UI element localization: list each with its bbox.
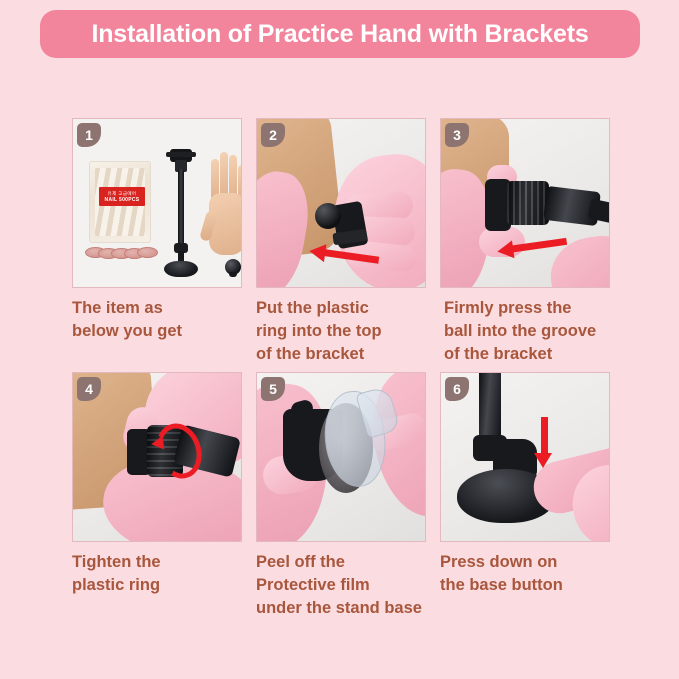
practice-discs-icon xyxy=(85,245,159,263)
page-title: Installation of Practice Hand with Brack… xyxy=(91,20,588,49)
step-1: 유제 고급에어 NAIL 500PCS xyxy=(72,118,242,365)
title-banner: Installation of Practice Hand with Brack… xyxy=(40,10,640,58)
step-4: 4 Tighten the plastic ring xyxy=(72,372,242,619)
bracket-threads xyxy=(507,181,549,225)
stand-with-suction-base-icon xyxy=(161,149,201,271)
step-4-caption: Tighten the plastic ring xyxy=(72,551,242,597)
step-3: 3 Firmly press the ball into the groove … xyxy=(440,118,610,365)
steps-grid: 유제 고급에어 NAIL 500PCS xyxy=(72,118,610,620)
practice-hand-icon xyxy=(205,149,242,259)
step-5-caption: Peel off the Protective film under the s… xyxy=(256,551,426,619)
step-1-caption: The item as below you get xyxy=(72,297,242,343)
step-3-photo: 3 xyxy=(440,118,610,288)
step-3-caption: Firmly press the ball into the groove of… xyxy=(440,297,610,365)
step-5: 5 Peel off the Protective film under the… xyxy=(256,372,426,619)
nail-bag-label: 유제 고급에어 NAIL 500PCS xyxy=(99,187,145,206)
step-2: 2 Put the plastic ring into the top of t… xyxy=(256,118,426,365)
step-4-photo: 4 xyxy=(72,372,242,542)
step-6-photo: 6 xyxy=(440,372,610,542)
step-2-caption: Put the plastic ring into the top of the… xyxy=(256,297,426,365)
bag-label-line2: NAIL 500PCS xyxy=(105,197,140,203)
ball-joint-icon xyxy=(225,259,241,275)
direction-arrow-down xyxy=(537,417,553,471)
bracket-ball-icon xyxy=(315,203,341,229)
stand-pole xyxy=(479,372,501,443)
step-6: 6 Press down on the base button xyxy=(440,372,610,619)
step-1-photo: 유제 고급에어 NAIL 500PCS xyxy=(72,118,242,288)
step-5-photo: 5 xyxy=(256,372,426,542)
step-2-photo: 2 xyxy=(256,118,426,288)
step-6-caption: Press down on the base button xyxy=(440,551,610,597)
